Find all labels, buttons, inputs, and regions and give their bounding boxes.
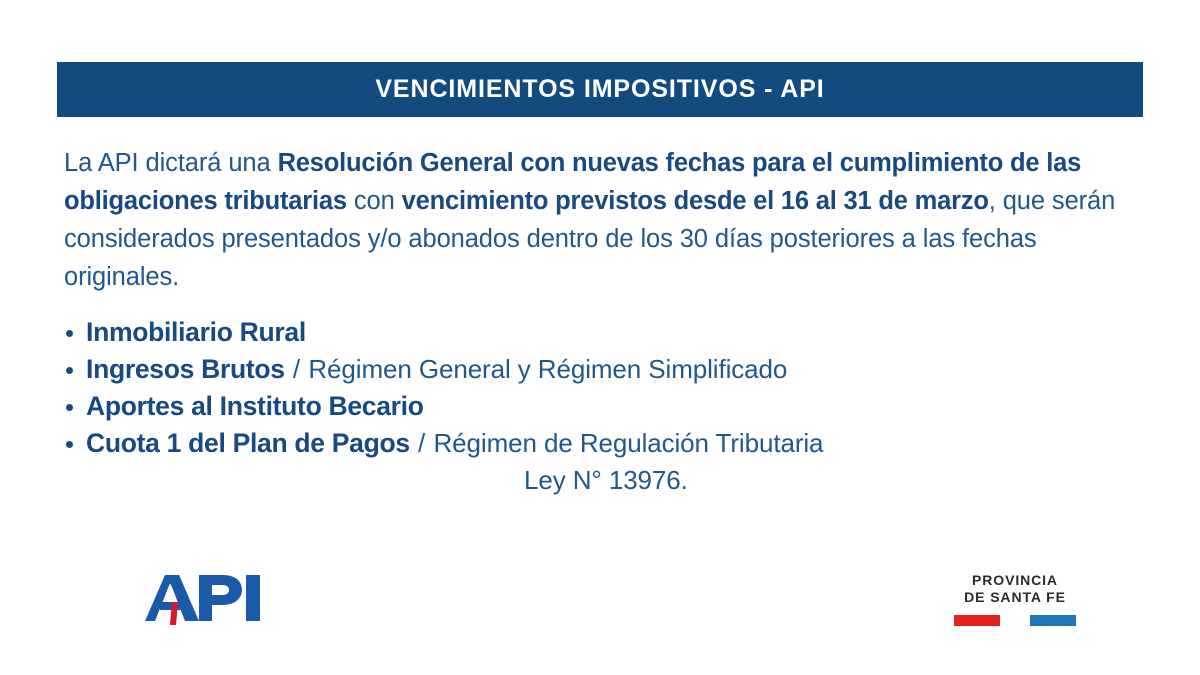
- list-item-title: Cuota 1 del Plan de Pagos: [86, 428, 410, 458]
- api-logo: [143, 567, 263, 629]
- tax-obligations-list: Inmobiliario RuralIngresos Brutos / Régi…: [64, 314, 1134, 499]
- header-banner: VENCIMIENTOS IMPOSITIVOS - API: [57, 62, 1143, 117]
- list-item-title: Inmobiliario Rural: [86, 317, 306, 347]
- provincia-santa-fe-logo: PROVINCIA DE SANTA FE: [940, 572, 1090, 634]
- list-item: Aportes al Instituto Becario: [64, 388, 1134, 425]
- list-item: Ingresos Brutos / Régimen General y Régi…: [64, 351, 1134, 388]
- intro-paragraph: La API dictará una Resolución General co…: [64, 144, 1124, 296]
- list-item-detail-continuation: Ley N° 13976.: [64, 462, 1134, 499]
- santafe-blue-bar: [1030, 615, 1076, 626]
- paragraph-emphasis: vencimiento previstos desde el 16 al 31 …: [402, 187, 989, 215]
- slide-canvas: VENCIMIENTOS IMPOSITIVOS - API La API di…: [0, 0, 1200, 675]
- santafe-color-bars: [954, 615, 1076, 626]
- list-item-detail: Régimen de Regulación Tributaria: [434, 428, 824, 458]
- santafe-line-2: DE SANTA FE: [940, 589, 1090, 606]
- page-title: VENCIMIENTOS IMPOSITIVOS - API: [375, 77, 824, 102]
- list-item-separator: /: [285, 354, 309, 384]
- list-item-separator: /: [410, 428, 434, 458]
- list-item: Cuota 1 del Plan de Pagos / Régimen de R…: [64, 425, 1134, 462]
- paragraph-text: La API dictará una: [64, 149, 278, 177]
- list-item: Inmobiliario Rural: [64, 314, 1134, 351]
- list-item-title: Ingresos Brutos: [86, 354, 285, 384]
- santafe-red-bar: [954, 615, 1000, 626]
- list-item-title: Aportes al Instituto Becario: [86, 391, 424, 421]
- paragraph-text: con: [347, 187, 402, 215]
- list-item-detail: Régimen General y Régimen Simplificado: [308, 354, 787, 384]
- santafe-line-1: PROVINCIA: [940, 572, 1090, 589]
